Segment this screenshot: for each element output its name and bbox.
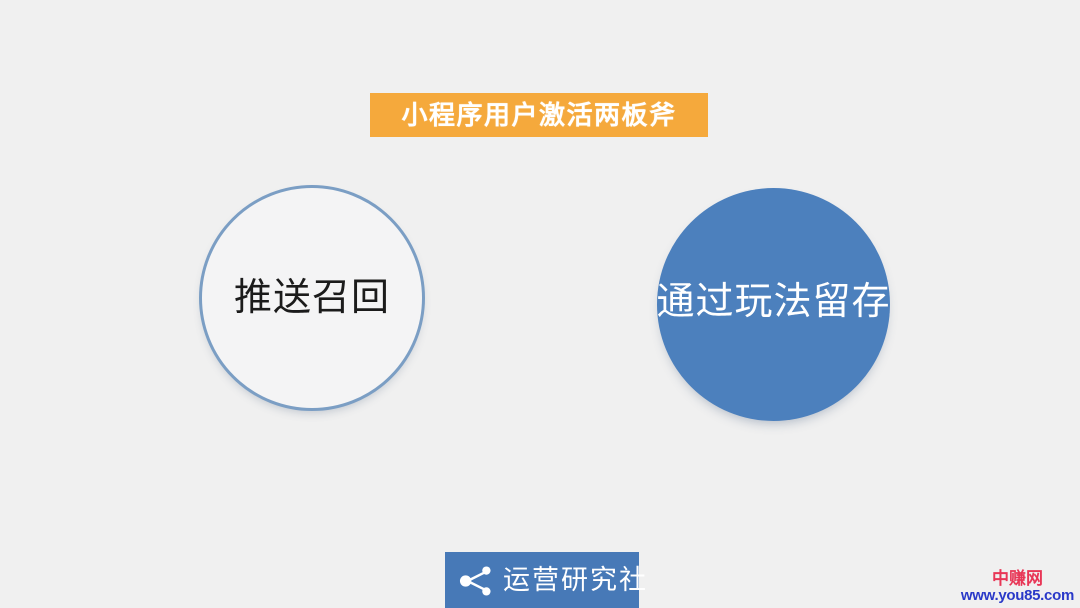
watermark-site-url: www.you85.com (961, 588, 1074, 604)
share-icon (457, 564, 495, 598)
slide-title-banner: 小程序用户激活两板斧 (370, 93, 708, 137)
concept-circle-filled-label: 通过玩法留存 (657, 283, 891, 321)
slide-canvas: 小程序用户激活两板斧 推送召回 通过玩法留存 运营研究社 中赚网 www.you… (0, 0, 1080, 608)
concept-circle-outline[interactable]: 推送召回 (199, 185, 425, 411)
brand-logo: 运营研究社 (445, 552, 639, 608)
watermark: 中赚网 www.you85.com (961, 570, 1074, 604)
concept-circle-outline-label: 推送召回 (234, 279, 390, 317)
slide-title-text: 小程序用户激活两板斧 (401, 102, 676, 128)
brand-name-label: 运营研究社 (503, 567, 648, 594)
concept-circle-filled[interactable]: 通过玩法留存 (657, 188, 890, 421)
watermark-site-name: 中赚网 (961, 570, 1074, 588)
